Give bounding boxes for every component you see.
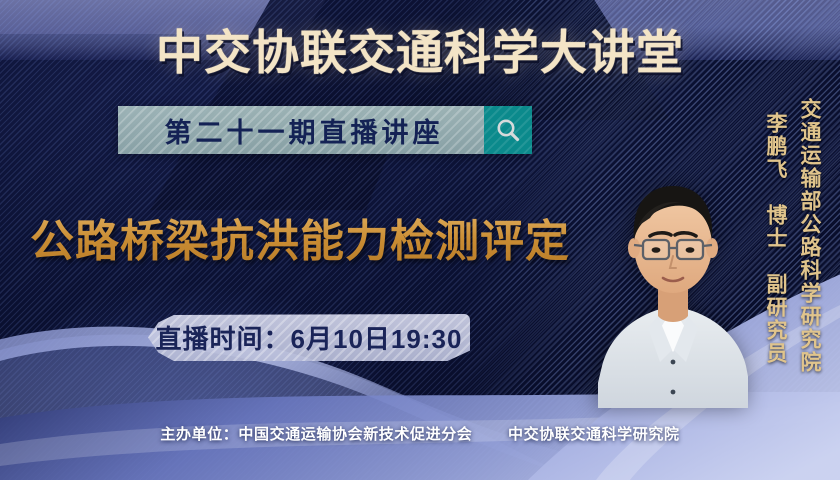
speaker-portrait: [598, 166, 748, 408]
speaker-organization: 交通运输部公路科学研究院: [794, 98, 824, 374]
footer-organizers: 主办单位：中国交通运输协会新技术促进分会 中交协联交通科学研究院: [0, 423, 840, 444]
episode-label-wrap: 第二十一期直播讲座: [118, 106, 484, 154]
speaker-name-title: 李鹏飞 博士 副研究员: [760, 112, 790, 365]
footer-organizer-secondary: 中交协联交通科学研究院: [508, 426, 680, 443]
search-button[interactable]: [484, 106, 532, 154]
search-icon: [495, 117, 521, 143]
footer-organizer-primary: 主办单位：中国交通运输协会新技术促进分会: [160, 426, 472, 443]
lecture-headline: 公路桥梁抗洪能力检测评定: [30, 205, 570, 269]
episode-bar: 第二十一期直播讲座: [118, 106, 532, 154]
page-title: 中交协联交通科学大讲堂: [0, 14, 840, 83]
live-time-text: 直播时间：6月10日19:30: [156, 319, 463, 356]
live-time-badge: 直播时间：6月10日19:30: [148, 314, 470, 361]
live-lecture-poster: 中交协联交通科学大讲堂 第二十一期直播讲座 公路桥梁抗洪能力检测评定 直播时间：…: [0, 0, 840, 480]
episode-label: 第二十一期直播讲座: [159, 111, 444, 150]
